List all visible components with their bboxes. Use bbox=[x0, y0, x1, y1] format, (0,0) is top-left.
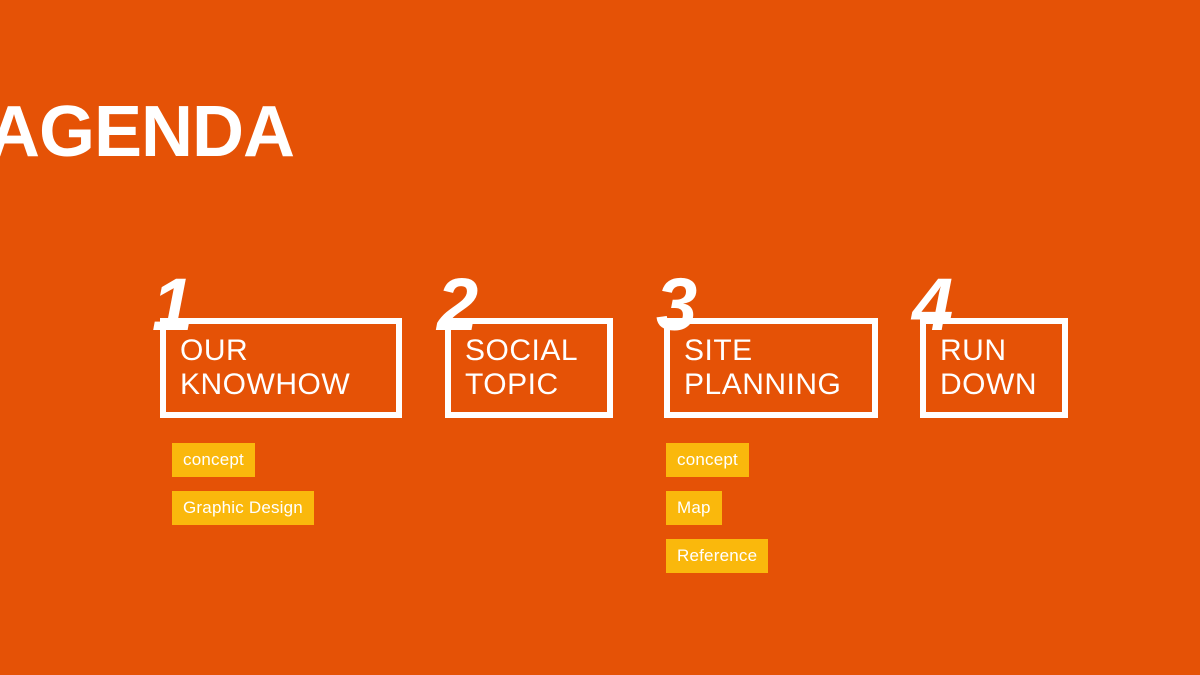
tag[interactable]: Map bbox=[666, 491, 722, 525]
agenda-item-label: SITE PLANNING bbox=[670, 334, 851, 401]
agenda-slide: AGENDA 1 OUR KNOWHOW concept Graphic Des… bbox=[0, 0, 1200, 675]
tag[interactable]: Reference bbox=[666, 539, 768, 573]
agenda-item-box[interactable]: SITE PLANNING bbox=[664, 318, 878, 418]
agenda-item-box[interactable]: OUR KNOWHOW bbox=[160, 318, 402, 418]
tag[interactable]: concept bbox=[172, 443, 255, 477]
tag[interactable]: concept bbox=[666, 443, 749, 477]
agenda-item-label: SOCIAL TOPIC bbox=[451, 334, 588, 401]
agenda-item-label: RUN DOWN bbox=[926, 334, 1047, 401]
page-title: AGENDA bbox=[0, 96, 294, 168]
agenda-item-tags: concept Map Reference bbox=[666, 443, 768, 573]
agenda-item-box[interactable]: SOCIAL TOPIC bbox=[445, 318, 613, 418]
agenda-item-label: OUR KNOWHOW bbox=[166, 334, 360, 401]
agenda-item-box[interactable]: RUN DOWN bbox=[920, 318, 1068, 418]
agenda-item-tags: concept Graphic Design bbox=[172, 443, 314, 525]
tag[interactable]: Graphic Design bbox=[172, 491, 314, 525]
